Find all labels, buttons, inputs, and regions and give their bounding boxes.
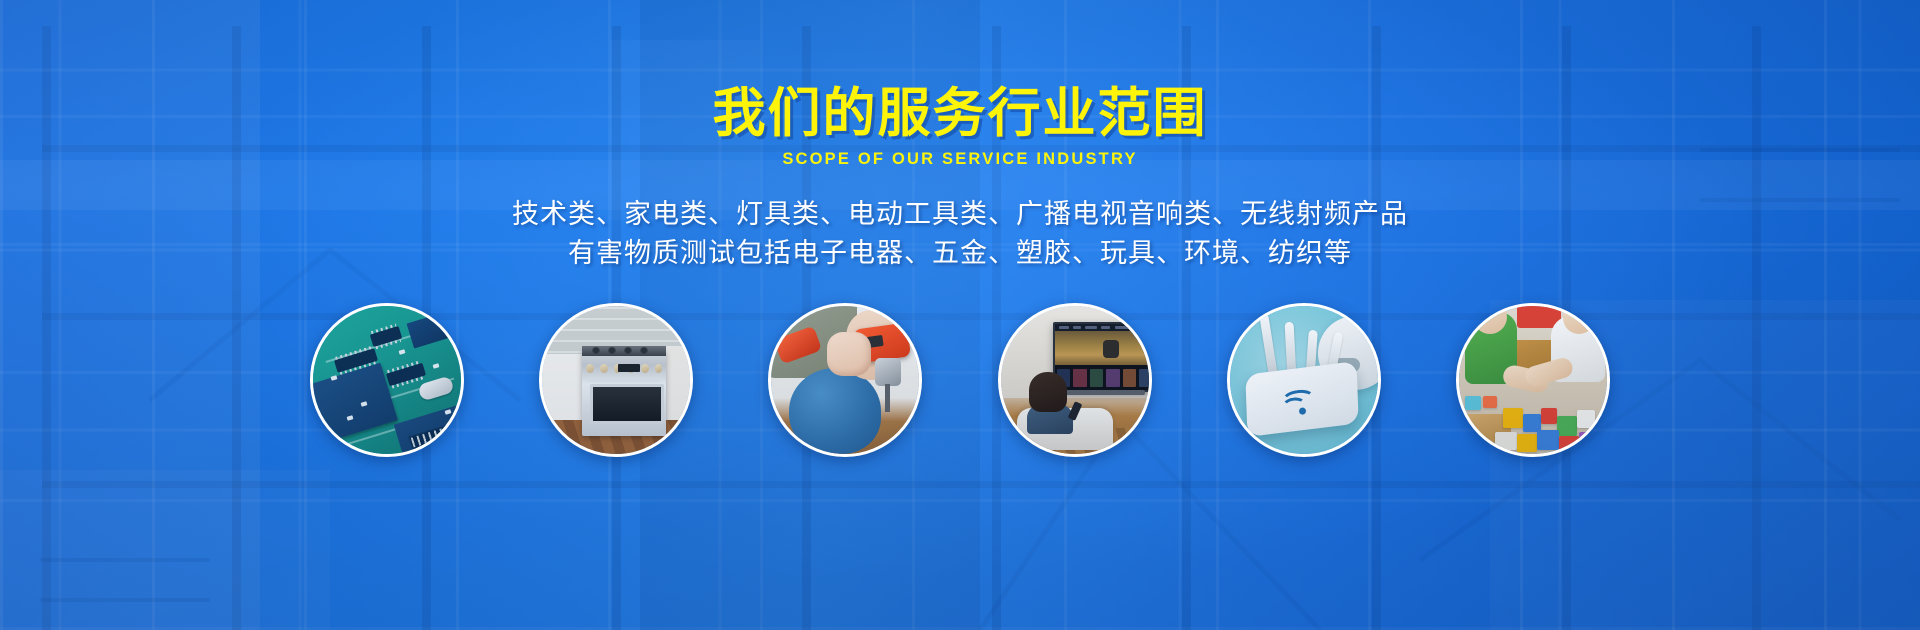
circle-tint (313, 306, 461, 454)
circle-image-power-drill[interactable] (768, 303, 922, 457)
industry-circle-row (310, 303, 1610, 457)
circle-image-kitchen-appliance[interactable] (539, 303, 693, 457)
circle-image-circuit-board[interactable] (310, 303, 464, 457)
circle-tint (771, 306, 919, 454)
circle-tint (1230, 306, 1378, 454)
description-line-2: 有害物质测试包括电子电器、五金、塑胶、玩具、环境、纺织等 (0, 234, 1920, 273)
circle-tint (1459, 306, 1607, 454)
page-subtitle: SCOPE OF OUR SERVICE INDUSTRY (0, 150, 1920, 169)
circle-image-wifi-router[interactable] (1227, 303, 1381, 457)
page-title: 我们的服务行业范围 (0, 0, 1920, 142)
circle-image-television[interactable] (998, 303, 1152, 457)
description-line-1: 技术类、家电类、灯具类、电动工具类、广播电视音响类、无线射频产品 (0, 195, 1920, 234)
circle-image-children-toys[interactable] (1456, 303, 1610, 457)
banner-content: 我们的服务行业范围 SCOPE OF OUR SERVICE INDUSTRY … (0, 0, 1920, 273)
circle-tint (1001, 306, 1149, 454)
service-scope-banner: 我们的服务行业范围 SCOPE OF OUR SERVICE INDUSTRY … (0, 0, 1920, 630)
description-block: 技术类、家电类、灯具类、电动工具类、广播电视音响类、无线射频产品 有害物质测试包… (0, 195, 1920, 273)
circle-tint (542, 306, 690, 454)
